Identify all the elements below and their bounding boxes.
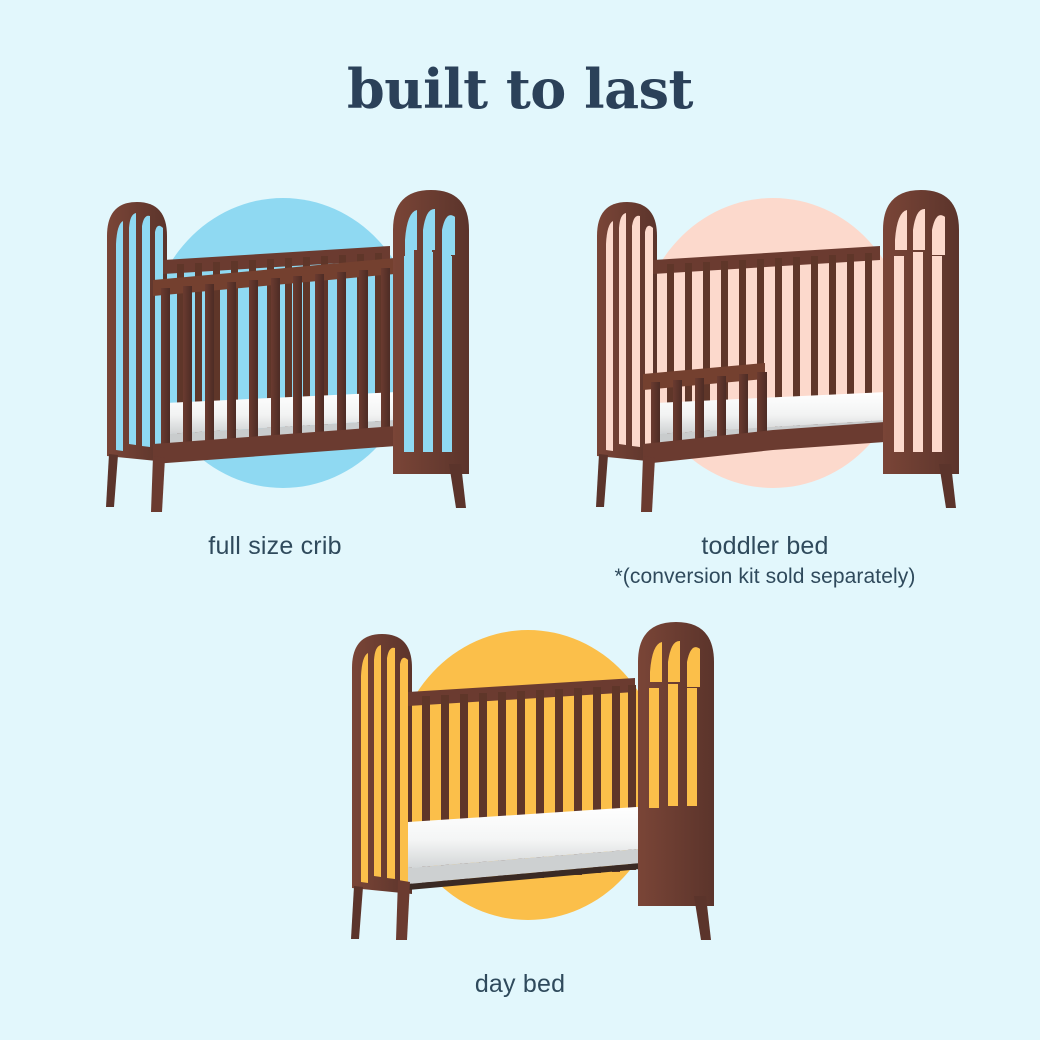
right-end-panel	[393, 190, 469, 508]
toddler-bed-illustration	[535, 168, 995, 518]
subcaption-toddler-bed: *(conversion kit sold separately)	[535, 564, 995, 590]
caption-day-bed: day bed	[290, 970, 750, 1000]
panel-full-size-crib: full size crib	[45, 168, 505, 562]
infographic-page: built to last	[0, 0, 1040, 1040]
caption-full-size-crib: full size crib	[45, 532, 505, 562]
panel-toddler-bed: toddler bed *(conversion kit sold separa…	[535, 168, 995, 590]
right-end-panel	[883, 190, 959, 508]
page-title: built to last	[0, 62, 1040, 116]
front-left-leg	[151, 456, 165, 512]
right-end-panel	[638, 622, 714, 940]
full-size-crib-illustration	[45, 168, 505, 518]
caption-toddler-bed: toddler bed	[535, 532, 995, 562]
front-left-leg	[396, 880, 410, 940]
front-left-leg	[641, 456, 655, 512]
day-bed-illustration	[290, 600, 750, 950]
panel-day-bed: day bed	[290, 600, 750, 1000]
